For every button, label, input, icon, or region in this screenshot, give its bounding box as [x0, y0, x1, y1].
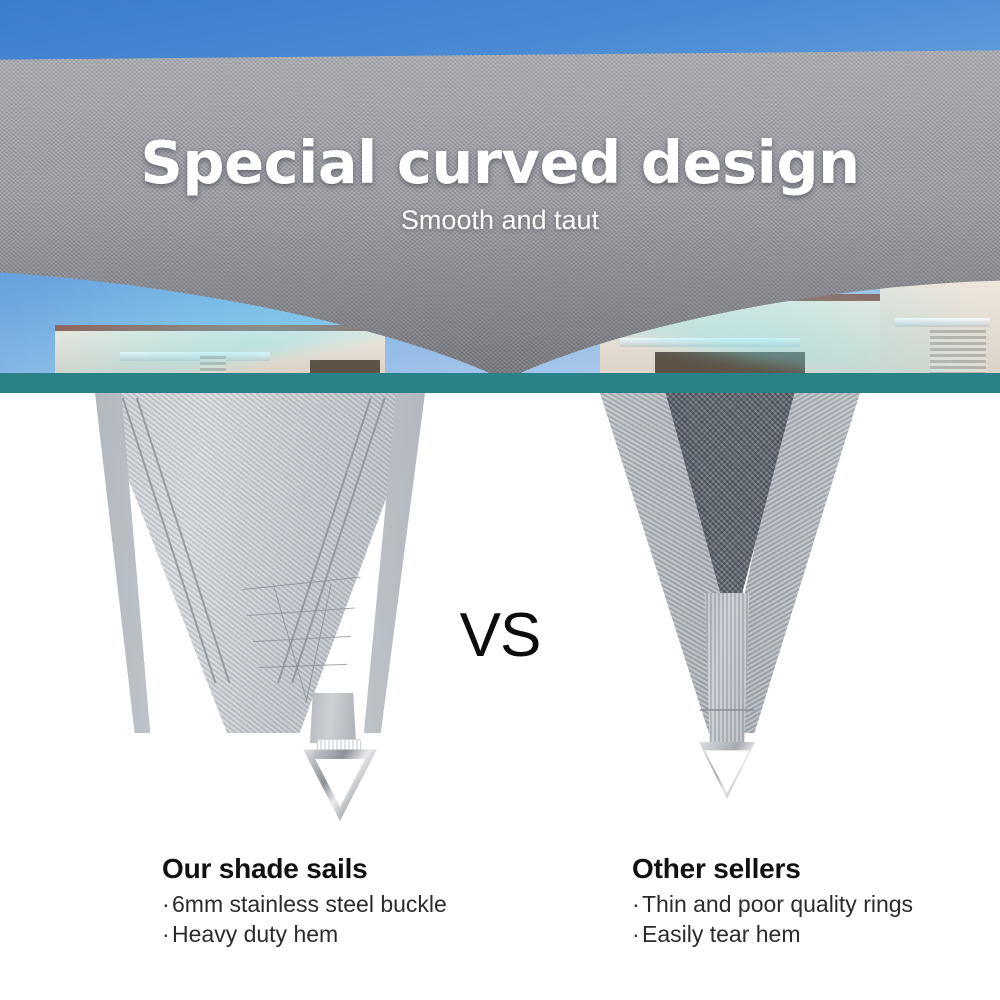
other-caption-bullet-text: Easily tear hem — [642, 921, 801, 947]
captions-section: Our shade sails ·6mm stainless steel buc… — [0, 853, 1000, 1000]
other-sail-seam — [700, 709, 754, 711]
our-caption-bullet: ·Heavy duty hem — [162, 921, 447, 948]
stainless-steel-buckle-icon — [300, 745, 380, 821]
bullet-dot-icon: · — [162, 891, 172, 918]
our-caption-bullet-text: Heavy duty hem — [172, 921, 338, 947]
bullet-dot-icon: · — [162, 921, 172, 948]
other-caption-heading: Other sellers — [632, 853, 913, 885]
hero-banner: Special curved design Smooth and taut — [0, 0, 1000, 374]
our-caption-bullet-text: 6mm stainless steel buckle — [172, 891, 447, 917]
window-left — [310, 360, 380, 374]
other-sellers-caption: Other sellers ·Thin and poor quality rin… — [632, 853, 913, 951]
our-caption-heading: Our shade sails — [162, 853, 447, 885]
hero-subtitle: Smooth and taut — [0, 205, 1000, 236]
our-sail-corner-tab — [310, 693, 356, 743]
thin-ring-icon — [695, 737, 759, 799]
bullet-dot-icon: · — [632, 921, 642, 948]
teal-divider-band — [0, 373, 1000, 393]
other-caption-bullet-text: Thin and poor quality rings — [642, 891, 913, 917]
ring-hole — [703, 749, 751, 793]
product-comparison-page: Special curved design Smooth and taut — [0, 0, 1000, 1000]
our-caption-bullet: ·6mm stainless steel buckle — [162, 891, 447, 918]
hero-title: Special curved design — [0, 128, 1000, 197]
our-shade-sails-caption: Our shade sails ·6mm stainless steel buc… — [162, 853, 447, 951]
other-shade-sail-photo — [600, 393, 860, 733]
our-shade-sail-photo — [95, 393, 425, 733]
bullet-dot-icon: · — [632, 891, 642, 918]
other-caption-bullet: ·Thin and poor quality rings — [632, 891, 913, 918]
other-caption-bullet: ·Easily tear hem — [632, 921, 913, 948]
comparison-section: VS — [0, 393, 1000, 853]
